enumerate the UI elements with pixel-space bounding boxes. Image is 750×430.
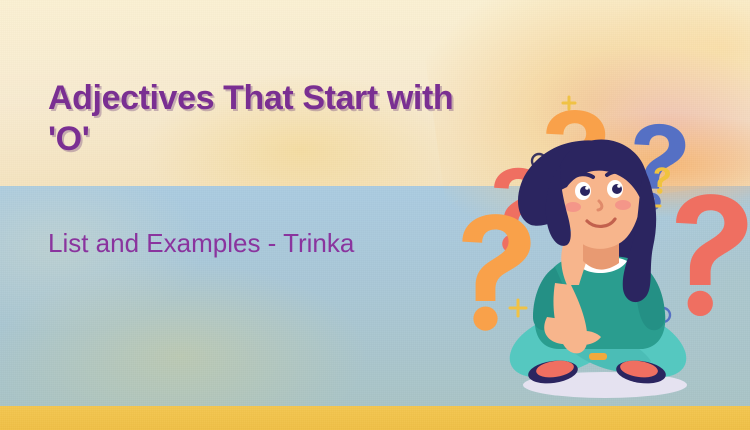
question-mark-orange-left — [462, 214, 530, 331]
banner-title: Adjectives That Start with 'O' — [48, 78, 488, 160]
thinking-woman-illustration — [455, 95, 750, 410]
banner-image: Adjectives That Start with 'O' List and … — [0, 0, 750, 430]
cheek-left — [565, 202, 581, 212]
woman-figure — [510, 139, 687, 386]
cheek-right — [615, 200, 631, 210]
eye-highlight-left — [585, 186, 589, 190]
eye-highlight-right — [617, 184, 621, 188]
question-mark-coral-right — [676, 194, 747, 316]
banner-subtitle: List and Examples - Trinka — [48, 226, 378, 260]
ankle-band — [589, 353, 607, 360]
